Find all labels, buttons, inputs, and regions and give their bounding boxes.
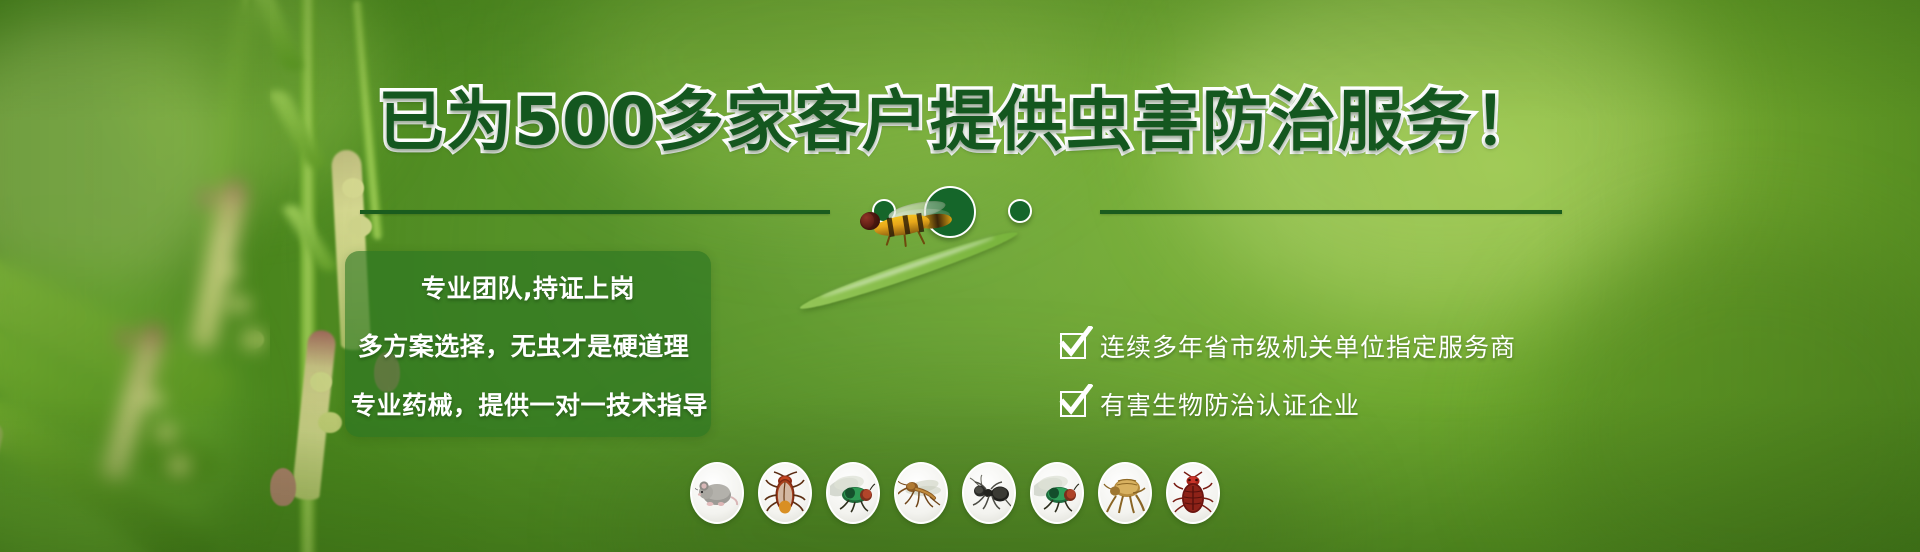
fly-stripe bbox=[902, 215, 910, 235]
feature-line-3: 专业药械，提供一对一技术指导 bbox=[351, 377, 693, 435]
headline-text: 已为500多家客户提供虫害防治服务！ bbox=[378, 83, 1542, 160]
mosquito-icon[interactable] bbox=[894, 462, 948, 524]
feature-line-2: 多方案选择，无虫才是硬道理 bbox=[354, 317, 693, 377]
fly-stripe bbox=[887, 218, 895, 238]
fly-icon[interactable] bbox=[826, 462, 880, 524]
mouse-icon[interactable] bbox=[690, 462, 744, 524]
hoverfly-icon bbox=[848, 198, 958, 246]
divider-right bbox=[1100, 210, 1562, 214]
feature-panel: 专业团队,持证上岗 多方案选择，无虫才是硬道理 专业药械，提供一对一技术指导 bbox=[345, 251, 711, 437]
credential-row: 有害生物防治认证企业 bbox=[1060, 386, 1516, 422]
blowfly-icon[interactable] bbox=[1030, 462, 1084, 524]
credential-label: 有害生物防治认证企业 bbox=[1100, 386, 1360, 422]
feature-line-1: 专业团队,持证上岗 bbox=[363, 261, 693, 317]
checkbox-checked-icon bbox=[1060, 391, 1086, 417]
flea-icon[interactable] bbox=[1098, 462, 1152, 524]
credentials-list: 连续多年省市级机关单位指定服务商 有害生物防治认证企业 bbox=[1060, 328, 1516, 444]
cockroach-icon[interactable] bbox=[758, 462, 812, 524]
feature-panel-rows: 专业团队,持证上岗 多方案选择，无虫才是硬道理 专业药械，提供一对一技术指导 bbox=[345, 251, 711, 435]
ant-icon[interactable] bbox=[962, 462, 1016, 524]
credential-row: 连续多年省市级机关单位指定服务商 bbox=[1060, 328, 1516, 364]
checkbox-checked-icon bbox=[1060, 333, 1086, 359]
bedbug-icon[interactable] bbox=[1166, 462, 1220, 524]
headline: 已为500多家客户提供虫害防治服务！ bbox=[0, 68, 1920, 164]
fly-eye bbox=[861, 213, 874, 228]
fly-stripe bbox=[916, 213, 924, 233]
promo-banner: 已为500多家客户提供虫害防治服务！ 专业团队,持证上岗 多方案选择，无虫才是硬… bbox=[0, 0, 1920, 552]
pest-icon-strip bbox=[690, 462, 1220, 524]
credential-label: 连续多年省市级机关单位指定服务商 bbox=[1100, 328, 1516, 364]
divider-left bbox=[360, 210, 830, 214]
fly-thorax bbox=[873, 212, 931, 240]
decor-dot-small-right bbox=[1008, 199, 1032, 223]
